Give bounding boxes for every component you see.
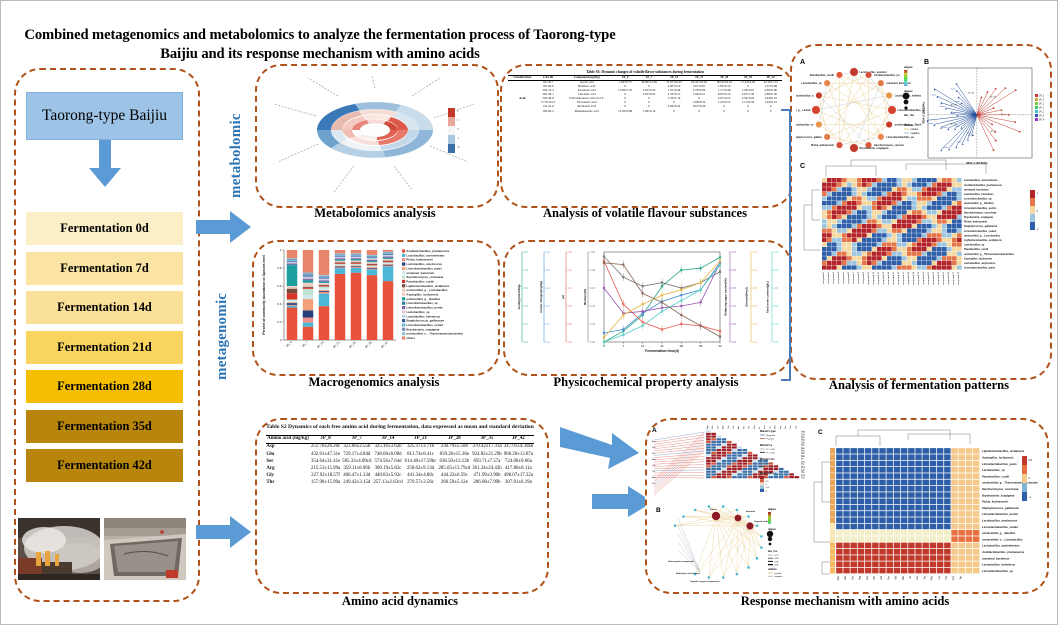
table-s2-value: 471.99±3.90b: [471, 472, 503, 479]
table-s2-value: 444.23±6.59c: [437, 472, 471, 479]
fermentation-stage-2[interactable]: Fermentation 14d: [26, 291, 183, 324]
svg-text:abs_rho: abs_rho: [768, 550, 778, 553]
svg-text:unnamed_bacterium: unnamed_bacterium: [982, 556, 1010, 560]
table-s2-value: 432.61±47.31e: [310, 451, 341, 458]
table-s2-value: 227.92±18.57f: [310, 472, 341, 479]
fermentation-stage-1[interactable]: Fermentation 7d: [26, 252, 183, 285]
svg-text:Ser: Ser: [652, 452, 656, 455]
svg-text:JP_7: JP_7: [1039, 100, 1044, 102]
svg-text:A: A: [652, 427, 657, 434]
svg-text:degree: degree: [768, 508, 777, 511]
svg-text:Aspergillus_luchuensis: Aspergillus_luchuensis: [981, 456, 1014, 460]
svg-text:4.8: 4.8: [524, 269, 528, 272]
svg-text:JP_42: JP_42: [380, 340, 389, 349]
svg-text:0.12: 0.12: [590, 323, 595, 326]
svg-text:Total ester content(g/L): Total ester content(g/L): [766, 281, 770, 313]
table-s2-value: 813.74±8.41c: [404, 451, 438, 458]
svg-text:Negative: Negative: [767, 434, 776, 437]
svg-text:positive: positive: [775, 572, 783, 575]
svg-text:JP_21: JP_21: [1039, 108, 1044, 110]
svg-text:Val: Val: [749, 425, 751, 429]
svg-text:Saccharomyces_cerevisiae: Saccharomyces_cerevisiae: [964, 211, 997, 214]
svg-text:B: B: [924, 59, 929, 66]
svg-text:Lys: Lys: [801, 469, 805, 471]
svg-text:0.75: 0.75: [775, 555, 780, 557]
svg-text:Leu: Leu: [801, 461, 806, 463]
svg-text:Cys: Cys: [790, 424, 792, 429]
table-s2-value: 498.07±17.22a: [503, 472, 534, 479]
svg-text:4.2: 4.2: [568, 269, 572, 272]
svg-text:unclassified_g__Bacillus: unclassified_g__Bacillus: [964, 202, 994, 205]
fermentation-stage-label: Fermentation 28d: [57, 379, 152, 394]
svg-text:0.90: 0.90: [775, 565, 780, 567]
table-s2-value: 323.66±2.55b: [341, 443, 372, 451]
svg-text:0.20: 0.20: [773, 341, 778, 344]
table-s2-value: 585.33±4.89cd: [341, 458, 372, 465]
svg-text:1.5: 1.5: [546, 269, 550, 272]
svg-text:unclassified_g__Bacillus: unclassified_g__Bacillus: [982, 531, 1016, 535]
svg-text:0.60: 0.60: [590, 251, 595, 254]
svg-text:Asp: Asp: [837, 575, 840, 580]
svg-text:< 0.7: < 0.7: [767, 462, 773, 465]
svg-text:unclassified_g__Thermoanaeroba: unclassified_g__Thermoanaerobacterales: [964, 253, 1014, 256]
svg-text:Gly: Gly: [866, 575, 869, 580]
caption-fermentation-patterns: Analysis of fermentation patterns: [790, 378, 1048, 393]
svg-text:Phe: Phe: [775, 424, 777, 429]
svg-text:compound 9: compound 9: [863, 271, 865, 284]
svg-text:Glu: Glu: [801, 434, 805, 436]
svg-text:Ser: Ser: [801, 436, 805, 439]
svg-text:Lactobacillus_helveticus: Lactobacillus_helveticus: [964, 193, 994, 196]
svg-text:6.0: 6.0: [524, 251, 528, 254]
svg-text:relation: relation: [904, 123, 914, 127]
svg-text:Cys: Cys: [952, 575, 955, 580]
table-s2-col-3: JP_14: [372, 435, 403, 443]
svg-text:JP_21: JP_21: [332, 340, 341, 349]
svg-text:compound 17: compound 17: [903, 271, 905, 285]
table-s2-value: 361.34±24.42b: [471, 465, 503, 472]
svg-text:1.1: 1.1: [546, 323, 550, 326]
svg-text:Alcohols: Alcohols: [746, 510, 756, 513]
caption-response-mechanism: Response mechanism with amino acids: [645, 594, 1045, 609]
svg-text:1: 1: [1037, 192, 1039, 195]
fermentation-stage-label: Fermentation 21d: [57, 340, 152, 355]
fermentation-stage-5[interactable]: Fermentation 35d: [26, 410, 183, 443]
svg-text:Lys: Lys: [780, 425, 782, 429]
svg-text:Lactobacillus_amylovorus: Lactobacillus_amylovorus: [964, 262, 996, 265]
svg-text:Asp: Asp: [652, 440, 657, 443]
fermentation-stage-label: Fermentation 0d: [60, 221, 148, 236]
svg-text:2: 2: [457, 109, 459, 113]
svg-text:Limosilactobacillus_sp: Limosilactobacillus_sp: [982, 569, 1013, 573]
svg-text:JP_42: JP_42: [1039, 120, 1044, 122]
svg-text:0: 0: [457, 127, 459, 131]
svg-text:Lactobacillus_sp: Lactobacillus_sp: [801, 82, 822, 85]
svg-text:3.6: 3.6: [524, 287, 528, 290]
table-s2-value: 839.26±15.36e: [437, 451, 471, 458]
svg-text:Paenibacillus_curdii: Paenibacillus_curdii: [964, 248, 988, 251]
svg-text:0.05: 0.05: [731, 287, 736, 290]
fermentation-stage-label: Fermentation 35d: [57, 419, 152, 434]
svg-text:JP_35: JP_35: [364, 340, 373, 349]
svg-text:0.8: 0.8: [277, 266, 282, 270]
svg-text:Aldehydes and ketones: Aldehydes and ketones: [676, 572, 701, 575]
table-s2-amino-acid: Glu: [266, 451, 310, 458]
svg-text:42: 42: [718, 344, 722, 348]
svg-text:Thr: Thr: [801, 444, 805, 447]
table-s2-value: 440.83±5.92c: [372, 472, 403, 479]
svg-text:compound 11: compound 11: [873, 271, 875, 285]
svg-text:compound 22: compound 22: [928, 271, 930, 285]
down-arrow-icon: [88, 140, 122, 188]
fermentation-pit-photo: [104, 518, 186, 580]
svg-text:Limosilactobacillus_pontis: Limosilactobacillus_pontis: [964, 207, 997, 210]
svg-text:Acetilactobacillus_jinshanensi: Acetilactobacillus_jinshanensis: [981, 550, 1025, 554]
svg-text:positive: positive: [911, 128, 920, 131]
svg-text:Positive: Positive: [767, 437, 775, 440]
svg-text:degree: degree: [768, 528, 777, 531]
svg-text:1.00: 1.00: [773, 251, 778, 254]
svg-text:His: His: [801, 472, 805, 474]
svg-text:others: others: [406, 336, 415, 340]
svg-text:Trp: Trp: [959, 575, 962, 579]
svg-text:JP_35: JP_35: [1039, 116, 1044, 118]
svg-text:Lighterlactobacillus_acidipisc: Lighterlactobacillus_acidipiscis: [982, 449, 1025, 453]
svg-text:unnamed_bacterium: unnamed_bacterium: [964, 188, 989, 191]
table-s2-value: 325.37±3.71b: [404, 443, 438, 451]
svg-text:Arg: Arg: [722, 425, 725, 429]
svg-text:Gly: Gly: [728, 425, 730, 429]
svg-text:Limosilactobacillus_panis: Limosilactobacillus_panis: [964, 267, 996, 270]
table-s2-amino-acid: Arg: [266, 465, 310, 472]
svg-text:0.07: 0.07: [731, 251, 736, 254]
svg-text:Pichia_kudriavzevii: Pichia_kudriavzevii: [964, 221, 987, 224]
svg-text:taxon: taxon: [955, 100, 960, 103]
svg-text:-1: -1: [457, 136, 460, 140]
svg-text:compound 10: compound 10: [868, 271, 870, 285]
svg-text:His: His: [945, 575, 948, 579]
caption-volatile: Analysis of volatile flavour substances: [490, 206, 800, 221]
svg-text:C: C: [818, 429, 823, 436]
svg-text:compound 15: compound 15: [893, 271, 895, 285]
svg-text:compound 27: compound 27: [953, 271, 955, 285]
table-s2-value: 325.16±3.62b: [372, 443, 403, 451]
svg-text:Lactobacillus_sp: Lactobacillus_sp: [964, 244, 985, 247]
svg-text:0.80: 0.80: [775, 558, 780, 560]
table-s2-col-6: JP_35: [471, 435, 503, 443]
svg-text:Paenibacillus_curdii: Paenibacillus_curdii: [982, 474, 1009, 478]
table-s3-value: 0: [737, 109, 760, 113]
svg-text:0.02: 0.02: [731, 341, 736, 344]
svg-text:JP_28: JP_28: [348, 340, 357, 349]
svg-text:unclassified_g__Lactobacillus: unclassified_g__Lactobacillus: [964, 234, 1001, 237]
svg-text:JP_0: JP_0: [1000, 114, 1006, 116]
svg-text:1.00: 1.00: [752, 251, 757, 254]
caption-physicochemical: Physicochemical property analysis: [496, 375, 796, 390]
svg-text:0.24: 0.24: [590, 305, 595, 308]
table-s3-value: 0: [687, 109, 712, 113]
svg-text:compound 5: compound 5: [843, 271, 845, 284]
svg-text:1: 1: [280, 248, 282, 252]
svg-text:1.2: 1.2: [524, 323, 528, 326]
svg-text:Acetilactobacillus_jin: Acetilactobacillus_jin: [874, 74, 900, 77]
svg-text:Asp: Asp: [706, 424, 709, 429]
svg-text:compound 26: compound 26: [948, 271, 950, 285]
svg-text:-0.5: -0.5: [766, 487, 770, 489]
svg-text:0.85: 0.85: [775, 561, 780, 563]
svg-text:Mantel's p: Mantel's p: [760, 444, 773, 447]
svg-text:Cys: Cys: [801, 475, 806, 477]
svg-text:0.5: 0.5: [1029, 459, 1033, 462]
svg-text:Leu: Leu: [764, 425, 766, 429]
caption-macrogenomics: Macrogenomics analysis: [252, 375, 496, 390]
table-s2-value: 300.19±5.82c: [372, 465, 403, 472]
svg-text:0.36: 0.36: [752, 323, 757, 326]
svg-text:0.0: 0.0: [524, 341, 528, 344]
svg-text:compound 7: compound 7: [853, 271, 855, 284]
side-label-metabolomic: metabolomic: [228, 88, 245, 198]
svg-text:Ala: Ala: [801, 447, 805, 450]
svg-text:Arg: Arg: [652, 458, 656, 461]
svg-text:pH: pH: [561, 295, 565, 299]
svg-text:unclassified_o__Lactobacillus: unclassified_o__Lactobacillus: [982, 537, 1023, 541]
table-row: Thr157.90±15.99a249.42±3.15d257.13±2.63c…: [266, 479, 534, 486]
svg-text:JP_35: JP_35: [968, 92, 975, 94]
svg-text:Paenibacillus_curdii: Paenibacillus_curdii: [810, 74, 834, 77]
svg-text:Limosilactobacillus_reuteri: Limosilactobacillus_reuteri: [982, 525, 1018, 529]
table-s3-value: 0: [712, 109, 737, 113]
svg-text:0.04: 0.04: [731, 305, 736, 308]
svg-text:Trp: Trp: [801, 477, 805, 480]
svg-text:0.4: 0.4: [277, 302, 282, 306]
svg-text:Gly: Gly: [652, 465, 656, 467]
table-s2-value: 748.68±6.08d: [372, 451, 403, 458]
fermentation-stage-label: Fermentation 14d: [57, 300, 152, 315]
svg-text:Ser: Ser: [851, 576, 854, 580]
svg-text:Phe: Phe: [931, 575, 934, 580]
table-s2-value: 359.11±8.96b: [341, 465, 372, 472]
svg-text:-2: -2: [457, 145, 460, 149]
svg-text:Ethanol(%vol): Ethanol(%vol): [745, 287, 749, 306]
table-s2-value: 968.20±13.87a: [503, 451, 534, 458]
svg-text:2.4: 2.4: [524, 305, 528, 308]
svg-text:Saccharomyces_cerevisiae: Saccharomyces_cerevisiae: [982, 487, 1019, 491]
svg-text:21: 21: [660, 344, 664, 348]
svg-text:Spearman's r: Spearman's r: [760, 472, 776, 475]
svg-text:0.03: 0.03: [731, 323, 736, 326]
svg-text:Arg: Arg: [859, 575, 862, 580]
svg-text:0: 0: [280, 338, 282, 342]
svg-text:compound 16: compound 16: [898, 271, 900, 285]
table-s2-value: 406.47±1.33d: [341, 472, 372, 479]
svg-text:0.52: 0.52: [752, 305, 757, 308]
table-s3-value: 12.59±0.89: [614, 109, 637, 113]
svg-text:compound 23: compound 23: [933, 271, 935, 285]
macrogenomics-stacked-bar-chart: 00.20.40.60.81JP_0JP_7JP_14JP_21JP_28JP_…: [258, 244, 494, 368]
table-s2-col-4: JP_21: [404, 435, 438, 443]
svg-text:-1: -1: [766, 490, 769, 492]
svg-text:B: B: [656, 507, 661, 514]
svg-text:Pichia_kudriavzevii: Pichia_kudriavzevii: [982, 500, 1008, 504]
svg-text:1.4: 1.4: [546, 287, 550, 290]
svg-text:JP_14: JP_14: [316, 340, 325, 349]
table-s2-value: 257.13±2.63cd: [372, 479, 403, 486]
svg-text:compound 24: compound 24: [938, 271, 940, 285]
svg-text:JP_42: JP_42: [990, 97, 997, 99]
svg-text:JP_7: JP_7: [301, 340, 309, 348]
table-s2-col-0: Amino acid (mg/kg): [266, 435, 310, 443]
svg-text:Gly: Gly: [801, 442, 805, 444]
table-s2-amino-acid: Gly: [266, 472, 310, 479]
svg-text:compound 21: compound 21: [923, 271, 925, 285]
svg-text:Phe: Phe: [801, 467, 806, 469]
svg-text:Percent of community abundance: Percent of community abundance on Specie…: [262, 255, 266, 335]
svg-text:compound 13: compound 13: [883, 271, 885, 285]
svg-text:compound 25: compound 25: [943, 271, 945, 285]
fermentation-patterns-figure: ABCLactobacillus_acetotolAcetilactobacil…: [796, 50, 1044, 370]
svg-text:compound 14: compound 14: [888, 271, 890, 285]
table-s2-value: 330.79±5.50b: [437, 443, 471, 451]
svg-text:Thr: Thr: [652, 470, 656, 473]
table-s2-col-1: JP_0: [310, 435, 341, 443]
svg-text:P < 0.05: P < 0.05: [767, 448, 776, 451]
svg-text:7: 7: [622, 344, 624, 348]
svg-text:1.6: 1.6: [546, 251, 550, 254]
table-s2-amino-acid: Thr: [266, 479, 310, 486]
svg-text:3.4: 3.4: [568, 341, 572, 344]
table-s2-body: Asp251.76±26.20c323.66±2.55b325.16±3.62b…: [266, 443, 534, 486]
caption-metabolomics: Metabolomics analysis: [255, 206, 495, 221]
svg-text:Ala: Ala: [737, 425, 740, 429]
table-row: Arg215.51±15.99a359.11±8.96b300.19±5.82c…: [266, 465, 534, 472]
response-mechanism-figure: ABCAspAspGluGluSerSerArgArgGlyGlyThrThrA…: [650, 422, 1040, 586]
svg-text:Limosilactobacillus_po: Limosilactobacillus_po: [886, 136, 914, 139]
svg-text:Staphylococcus_gallinarum: Staphylococcus_gallinarum: [982, 506, 1020, 510]
table-s2-col-7: JP_42: [503, 435, 534, 443]
svg-text:Met: Met: [753, 425, 756, 429]
svg-text:0.20: 0.20: [752, 341, 757, 344]
svg-text:Arg: Arg: [801, 439, 805, 442]
svg-text:negative: negative: [775, 575, 784, 578]
svg-text:Leu: Leu: [916, 575, 919, 580]
svg-text:0.52: 0.52: [773, 305, 778, 308]
svg-text:0: 0: [1037, 210, 1039, 213]
svg-text:0: 0: [1029, 477, 1031, 480]
svg-text:Acidity(mmol/10g): Acidity(mmol/10g): [517, 284, 521, 309]
svg-text:Organic oxygen compounds: Organic oxygen compounds: [690, 581, 720, 583]
svg-text:4.4: 4.4: [568, 251, 572, 254]
fermentation-stage-3[interactable]: Fermentation 21d: [26, 331, 183, 364]
svg-text:Tyr: Tyr: [801, 463, 804, 466]
fermentation-stage-4[interactable]: Fermentation 28d: [26, 370, 183, 403]
svg-text:Pro: Pro: [801, 450, 805, 453]
svg-text:28: 28: [680, 344, 684, 348]
svg-text:negative: negative: [911, 132, 921, 135]
svg-text:taxon: taxon: [951, 88, 956, 91]
svg-text:unnamed_bacterium: unnamed_bacterium: [886, 82, 911, 85]
svg-text:Pro: Pro: [887, 575, 890, 580]
table-s3-cas: 100-82-2: [536, 109, 559, 113]
svg-text:abs_rho: abs_rho: [904, 113, 915, 117]
svg-text:1.2: 1.2: [546, 305, 550, 308]
page-title: Combined metagenomics and metabolomics t…: [20, 26, 620, 65]
svg-text:Lighterlactobacillus_a: Lighterlactobacillus_a: [796, 94, 814, 97]
svg-text:degree: degree: [904, 65, 913, 69]
svg-text:taxon: taxon: [940, 105, 945, 108]
svg-text:taxon: taxon: [928, 122, 933, 125]
steaming-distillation-photo: [18, 518, 100, 580]
table-row: Asp251.76±26.20c323.66±2.55b325.16±3.62b…: [266, 443, 534, 451]
svg-text:0.48: 0.48: [590, 269, 595, 272]
table-s2-value: 286.08±7.99b: [471, 479, 503, 486]
svg-text:Trp: Trp: [794, 425, 797, 429]
svg-text:0.84: 0.84: [773, 269, 778, 272]
svg-text:compound 3: compound 3: [833, 271, 835, 284]
table-s2-value: 258.62±9.13d: [404, 465, 438, 472]
svg-text:RDA 2 (30.55%): RDA 2 (30.55%): [922, 102, 926, 123]
table-s2-value: 614.40±17.59bc: [404, 458, 438, 465]
svg-text:0.68: 0.68: [773, 287, 778, 290]
svg-text:Thr: Thr: [732, 425, 735, 429]
svg-text:compound 6: compound 6: [848, 271, 850, 284]
svg-text:0.5: 0.5: [766, 481, 770, 483]
svg-text:Limosilactobacillus_panis: Limosilactobacillus_panis: [982, 462, 1017, 466]
table-s2-value: 924.82±21.29b: [471, 451, 503, 458]
metabolomics-circular-heatmap: 21 0-1-2: [262, 70, 488, 198]
fermentation-stage-0[interactable]: Fermentation 0d: [26, 212, 183, 245]
svg-text:Thr: Thr: [873, 576, 876, 580]
table-s2-value: 441.34±4.80c: [404, 472, 438, 479]
table-row: Gly227.92±18.57f406.47±1.33d440.83±5.92c…: [266, 472, 534, 479]
svg-text:Ile: Ile: [909, 575, 912, 578]
svg-text:compound 20: compound 20: [918, 271, 920, 285]
svg-text:JP_28: JP_28: [1039, 112, 1044, 114]
side-label-metagenomic: metagenomic: [214, 270, 231, 380]
svg-text:Asp: Asp: [801, 431, 806, 434]
svg-text:Bryobacteria_scapigena: Bryobacteria_scapigena: [982, 493, 1015, 497]
svg-text:0.6: 0.6: [277, 284, 282, 288]
svg-text:JP_14: JP_14: [1039, 104, 1044, 106]
table-s2: Table S2 Dynamics of each free amino aci…: [266, 424, 534, 487]
table-s2-value: 724.00±9.66a: [503, 458, 534, 465]
table-s3: Table S3: Dynamic changes of volatile fl…: [508, 70, 782, 113]
svg-text:Fermentation time(d): Fermentation time(d): [645, 349, 679, 353]
table-s2-col-2: JP_7: [341, 435, 372, 443]
table-row: 100-82-2Benzeneacetic acid12.59±0.891.06…: [508, 109, 782, 113]
panels-to-patterns-connector: [780, 100, 796, 390]
svg-text:degree: degree: [904, 89, 913, 93]
svg-text:JP_14: JP_14: [968, 135, 975, 137]
table-s2-value: 417.80±8.11a: [503, 465, 534, 472]
pipeline-to-metagenomic-arrow: [196, 210, 252, 244]
svg-text:relation: relation: [768, 568, 777, 571]
svg-text:-1: -1: [1037, 228, 1040, 231]
table-s2-value: 251.76±26.20c: [310, 443, 341, 451]
table-s2-amino-acid: Ser: [266, 458, 310, 465]
pipeline-header-taorong-baijiu: Taorong-type Baijiu: [26, 92, 183, 140]
svg-text:Limosilactobacillus_pontis: Limosilactobacillus_pontis: [982, 512, 1018, 516]
fermentation-stage-label: Fermentation 7d: [60, 261, 148, 276]
svg-text:3.8: 3.8: [568, 305, 572, 308]
svg-text:compound 4: compound 4: [838, 271, 840, 284]
table-s2-value: 215.51±15.99a: [310, 465, 341, 472]
table-s3-value: 1.06±0.16: [637, 109, 662, 113]
svg-text:Mantel's rho: Mantel's rho: [760, 458, 775, 461]
svg-text:compound 18: compound 18: [908, 271, 910, 285]
fermentation-stage-6[interactable]: Fermentation 42d: [26, 449, 183, 482]
svg-text:Moisture(%): Moisture(%): [583, 289, 587, 306]
physicochemical-line-chart: 6.04.83.62.41.20.0Acidity(mmol/10g)1.61.…: [508, 244, 784, 368]
